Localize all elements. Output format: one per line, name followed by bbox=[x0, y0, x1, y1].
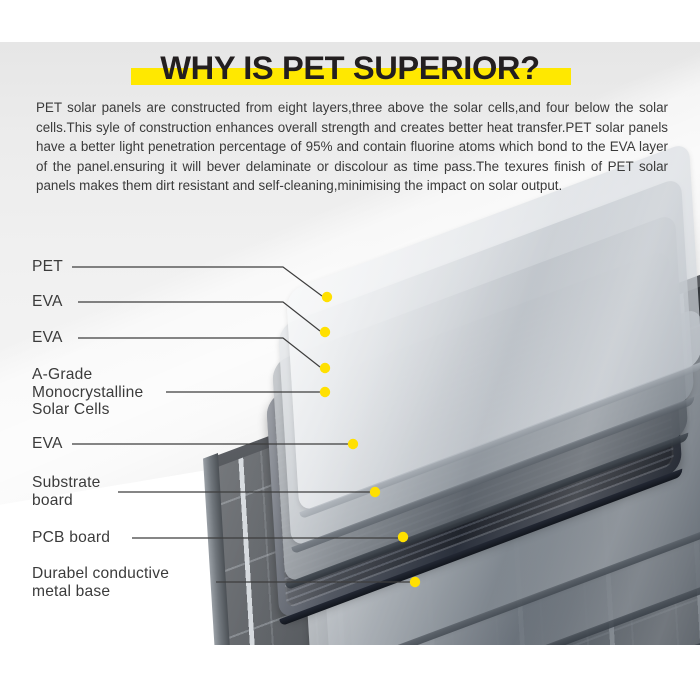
dot-substrate bbox=[370, 487, 380, 497]
dot-metal-base bbox=[410, 577, 420, 587]
dot-solar-cells bbox=[320, 387, 330, 397]
dot-eva-top bbox=[320, 327, 330, 337]
leader-eva-top bbox=[78, 302, 320, 331]
dot-eva-lower bbox=[348, 439, 358, 449]
dot-pcb bbox=[398, 532, 408, 542]
label-substrate: Substrate board bbox=[32, 474, 101, 509]
label-solar-cells: A-Grade Monocrystalline Solar Cells bbox=[32, 366, 143, 419]
label-pet: PET bbox=[32, 258, 63, 276]
label-eva-mid: EVA bbox=[32, 329, 63, 347]
label-metal-base: Durabel conductive metal base bbox=[32, 565, 169, 600]
label-pcb: PCB board bbox=[32, 529, 110, 547]
dot-eva-mid bbox=[320, 363, 330, 373]
leader-eva-mid bbox=[78, 338, 320, 367]
infographic-canvas: WHY IS PET SUPERIOR? PET solar panels ar… bbox=[0, 0, 700, 700]
dot-pet bbox=[322, 292, 332, 302]
label-eva-lower: EVA bbox=[32, 435, 63, 453]
label-eva-top: EVA bbox=[32, 293, 63, 311]
leader-pet bbox=[72, 267, 322, 296]
